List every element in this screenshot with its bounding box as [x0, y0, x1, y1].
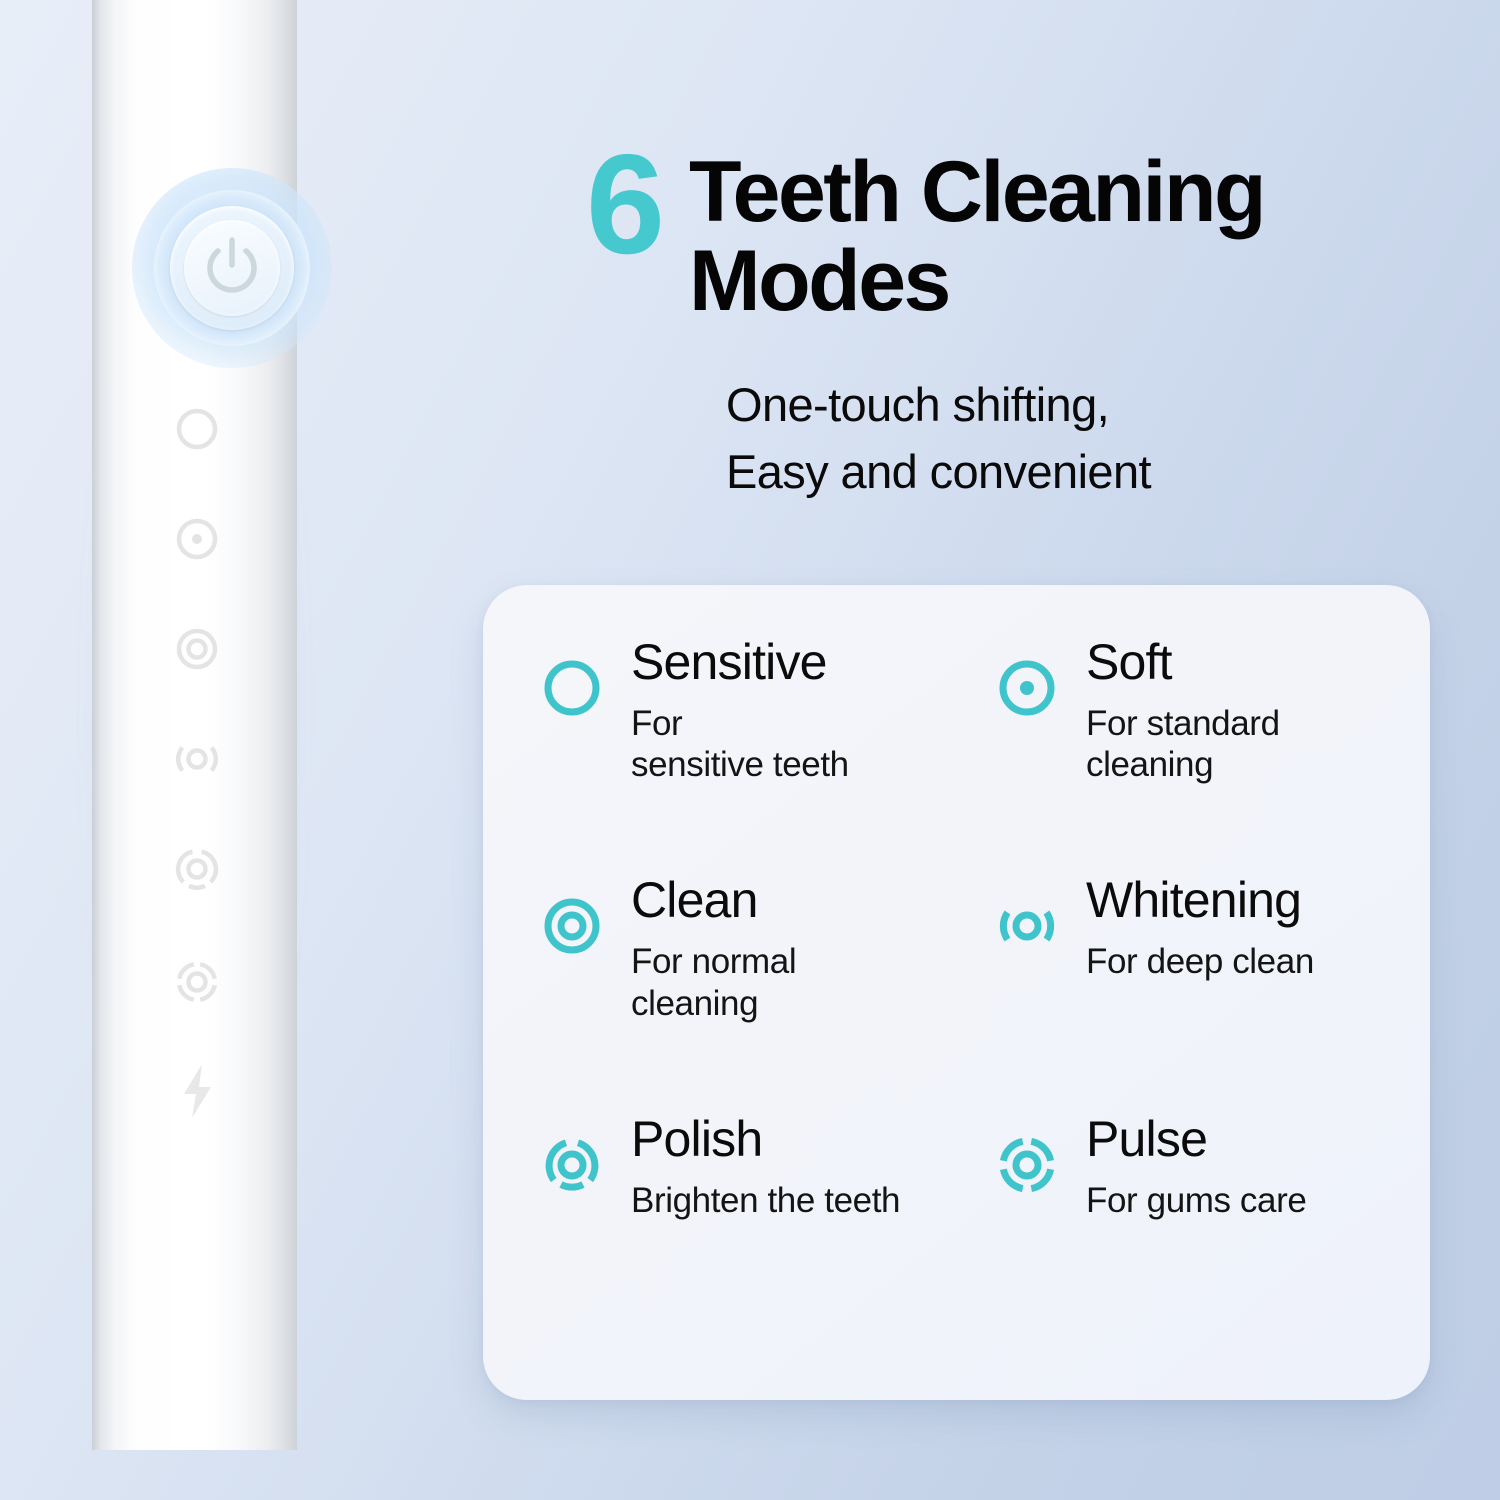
mode-item-polish[interactable]: Polish Brighten the teeth	[535, 1114, 990, 1352]
mode-description-line1: For deep clean	[1086, 941, 1314, 982]
mode-description-line1: Brighten the teeth	[631, 1180, 900, 1221]
page-title: Teeth Cleaning Modes	[689, 140, 1264, 327]
modes-grid: Sensitive For sensitive teeth Soft For s…	[483, 585, 1430, 1400]
handle-mode-tri-segment-ring-icon	[165, 837, 229, 901]
mode-description: For normal cleaning	[631, 941, 796, 1024]
mode-item-whitening[interactable]: Whitening For deep clean	[990, 875, 1396, 1113]
mode-description: Brighten the teeth	[631, 1180, 900, 1221]
mode-description-line1: For gums care	[1086, 1180, 1306, 1221]
mode-item-clean[interactable]: Clean For normal cleaning	[535, 875, 990, 1113]
mode-notched-ring-icon	[990, 889, 1064, 963]
mode-ring-icon	[535, 651, 609, 725]
power-button[interactable]	[132, 168, 332, 368]
mode-item-pulse[interactable]: Pulse For gums care	[990, 1114, 1396, 1352]
mode-name: Pulse	[1086, 1114, 1306, 1164]
mode-description-line2: sensitive teeth	[631, 744, 849, 785]
mode-double-ring-icon	[535, 889, 609, 963]
product-feature-banner: 6 Teeth Cleaning Modes One-touch shiftin…	[0, 0, 1500, 1500]
toothbrush-handle	[92, 0, 297, 1450]
mode-quad-segment-ring-icon	[990, 1128, 1064, 1202]
mode-name: Polish	[631, 1114, 900, 1164]
handle-mode-ring-icon	[165, 397, 229, 461]
mode-description: For standard cleaning	[1086, 703, 1280, 786]
mode-name: Soft	[1086, 637, 1280, 687]
mode-name: Sensitive	[631, 637, 849, 687]
handle-mode-notched-ring-icon	[165, 727, 229, 791]
mode-description-line1: For	[631, 703, 849, 744]
mode-item-soft[interactable]: Soft For standard cleaning	[990, 637, 1396, 875]
page-title-line1: Teeth Cleaning	[689, 148, 1264, 237]
subtitle-line2: Easy and convenient	[726, 439, 1151, 506]
page-title-line2: Modes	[689, 237, 1264, 326]
mode-item-sensitive[interactable]: Sensitive For sensitive teeth	[535, 637, 990, 875]
mode-description: For deep clean	[1086, 941, 1314, 982]
mode-ring-dot-icon	[990, 651, 1064, 725]
handle-mode-ring-dot-icon	[165, 507, 229, 571]
modes-card: Sensitive For sensitive teeth Soft For s…	[483, 585, 1430, 1400]
mode-description-line1: For standard	[1086, 703, 1280, 744]
handle-mode-quad-segment-ring-icon	[165, 950, 229, 1014]
handle-mode-double-ring-icon	[165, 617, 229, 681]
subtitle-line1: One-touch shifting,	[726, 372, 1151, 439]
power-icon	[198, 232, 266, 302]
mode-description-line2: cleaning	[631, 983, 796, 1024]
mode-count-number: 6	[586, 140, 663, 271]
mode-name: Whitening	[1086, 875, 1314, 925]
mode-description: For gums care	[1086, 1180, 1306, 1221]
headline-block: 6 Teeth Cleaning Modes	[586, 140, 1476, 327]
subtitle: One-touch shifting, Easy and convenient	[726, 372, 1151, 505]
handle-charge-bolt-icon	[171, 1060, 223, 1122]
mode-name: Clean	[631, 875, 796, 925]
mode-description: For sensitive teeth	[631, 703, 849, 786]
mode-tri-segment-ring-icon	[535, 1128, 609, 1202]
mode-description-line1: For normal	[631, 941, 796, 982]
mode-description-line2: cleaning	[1086, 744, 1280, 785]
